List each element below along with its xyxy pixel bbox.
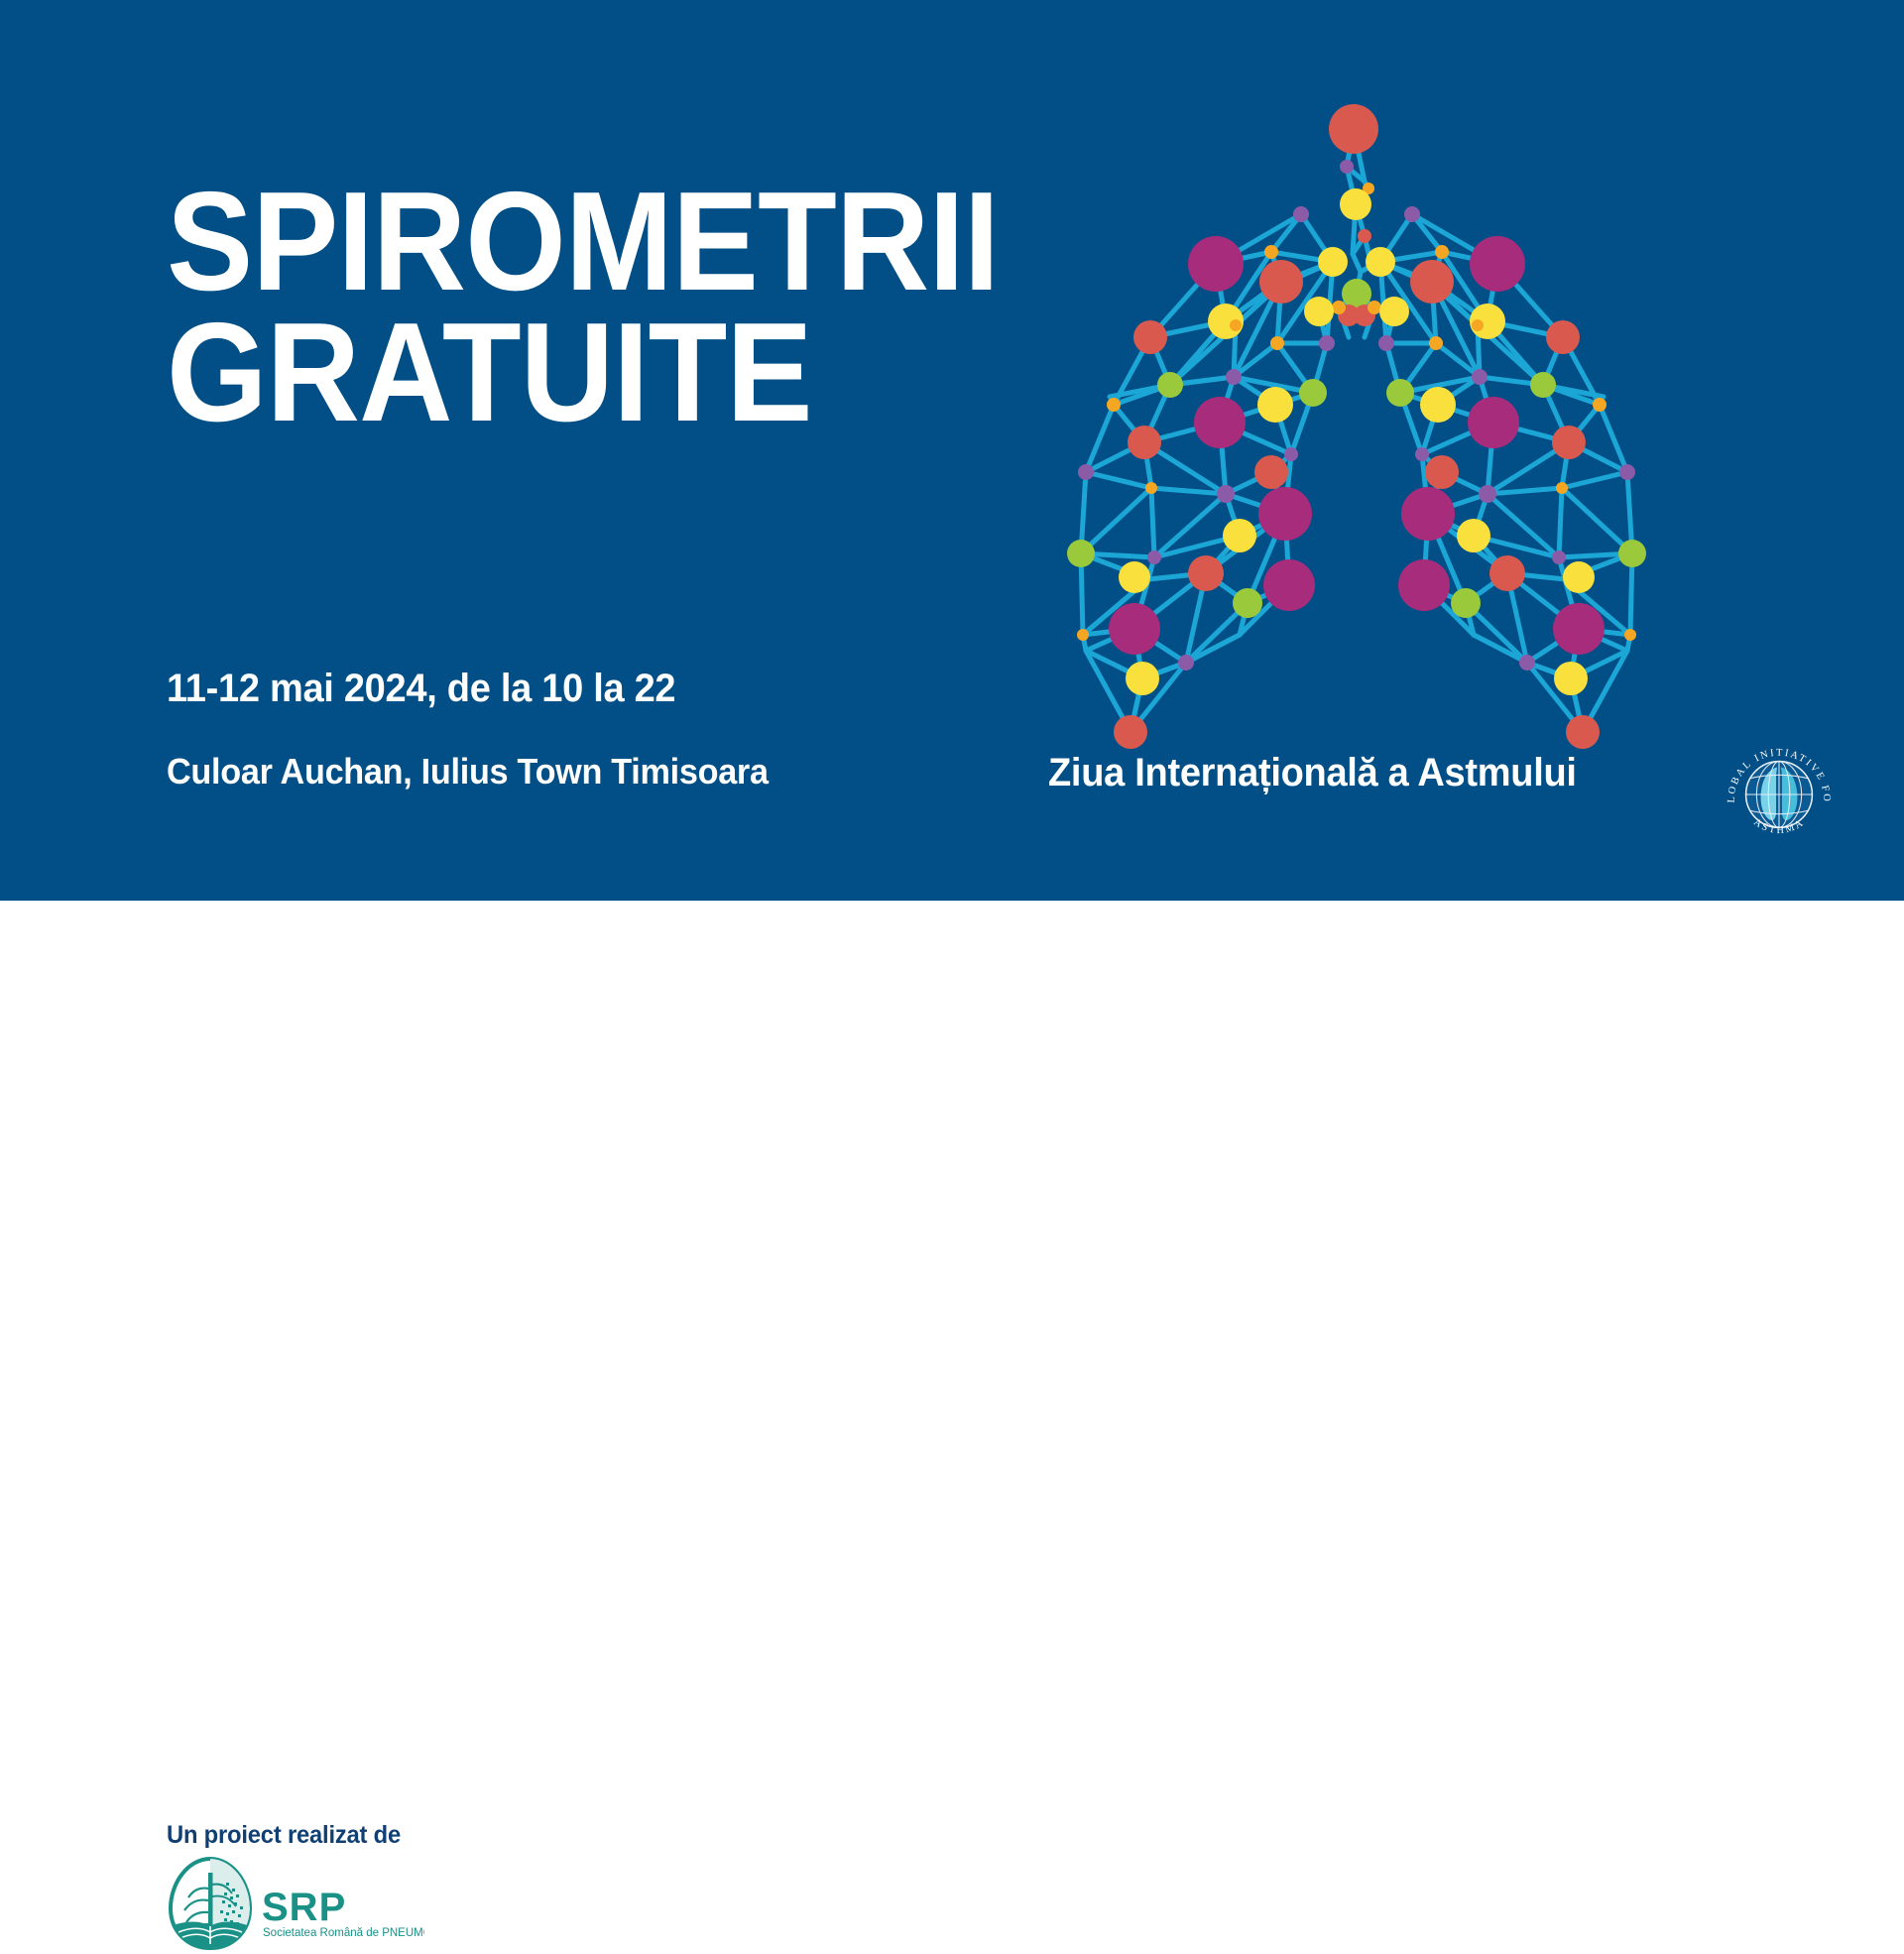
event-date: 11-12 mai 2024, de la 10 la 22 [167,667,675,711]
footer-credit-label: Un proiect realizat de [167,1821,401,1850]
poster-stage: SPIROMETRII GRATUITE 11-12 mai 2024, de … [0,0,1904,901]
event-location: Culoar Auchan, Iulius Town Timisoara [167,751,769,793]
event-tagline: Ziua Internațională a Astmului [1048,751,1577,795]
headline-line-1: SPIROMETRII [167,177,988,307]
srp-logo: SRP Societatea Română de PNEUMOLOGIE [167,1855,424,1954]
srp-acronym: SRP [262,1886,346,1929]
srp-full-name: Societatea Română de PNEUMOLOGIE [263,1927,424,1939]
lungs-network-illustration [1011,77,1686,752]
gina-logo: GLOBAL INITIATIVE FOR ASTHMA [1721,736,1838,853]
page-title: SPIROMETRII GRATUITE [167,177,1059,438]
poster-footer: Un proiect realizat de [0,901,1904,1071]
poster-root: SPIROMETRII GRATUITE 11-12 mai 2024, de … [0,0,1904,1071]
headline-line-2: GRATUITE [167,307,988,438]
